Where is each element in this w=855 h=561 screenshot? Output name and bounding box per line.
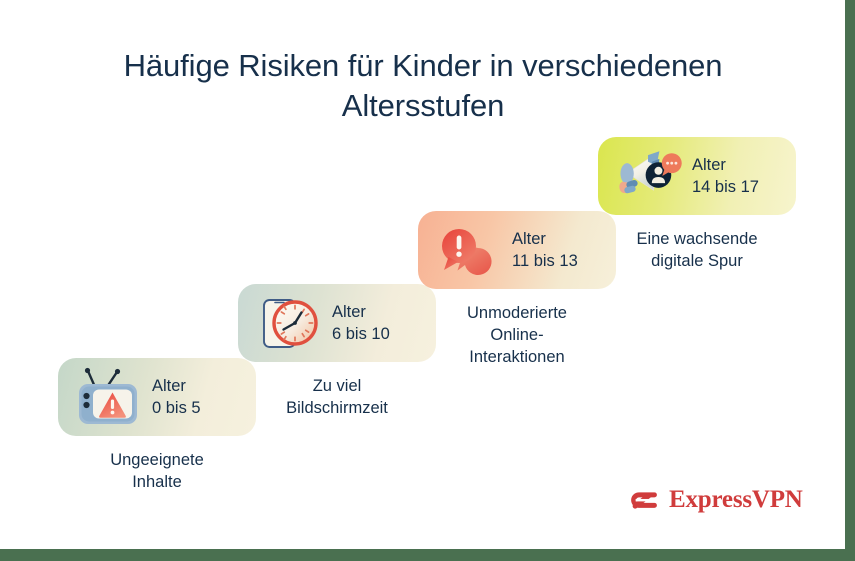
- step-item-3: Alter 14 bis 17 Eine wachsende digitale …: [598, 137, 796, 272]
- step-item-1: Alter 6 bis 10 Zu viel Bildschirmzeit: [238, 284, 436, 419]
- step-caption-0: Ungeeignete Inhalte: [58, 449, 256, 493]
- tv-warning-icon: [70, 366, 146, 428]
- age-card-1: Alter 6 bis 10: [238, 284, 436, 362]
- age-card-2: Alter 11 bis 13: [418, 211, 616, 289]
- phone-clock-icon: [250, 292, 326, 354]
- expressvpn-logo: ExpressVPN: [630, 485, 803, 515]
- step-caption-2: Unmoderierte Online- Interaktionen: [418, 302, 616, 368]
- expressvpn-e-logo: [630, 485, 660, 515]
- age-label-0: Alter 0 bis 5: [152, 375, 201, 419]
- megaphone-profile-icon: [610, 145, 686, 207]
- logo-wordmark: ExpressVPN: [669, 486, 803, 514]
- step-item-0: Alter 0 bis 5 Ungeeignete Inhalte: [58, 358, 256, 493]
- page-title: Häufige Risiken für Kinder in verschiede…: [70, 46, 776, 126]
- step-caption-1: Zu viel Bildschirmzeit: [238, 375, 436, 419]
- infographic-stage: Häufige Risiken für Kinder in verschiede…: [0, 0, 845, 549]
- age-label-3: Alter 14 bis 17: [692, 154, 759, 198]
- frame-right-stripe: [845, 0, 855, 561]
- chat-bubbles-alert-icon: [430, 219, 506, 281]
- step-item-2: Alter 11 bis 13 Unmoderierte Online- Int…: [418, 211, 616, 368]
- frame-bottom-stripe: [0, 549, 855, 561]
- age-label-2: Alter 11 bis 13: [512, 228, 578, 272]
- step-caption-3: Eine wachsende digitale Spur: [598, 228, 796, 272]
- age-card-3: Alter 14 bis 17: [598, 137, 796, 215]
- age-label-1: Alter 6 bis 10: [332, 301, 390, 345]
- age-card-0: Alter 0 bis 5: [58, 358, 256, 436]
